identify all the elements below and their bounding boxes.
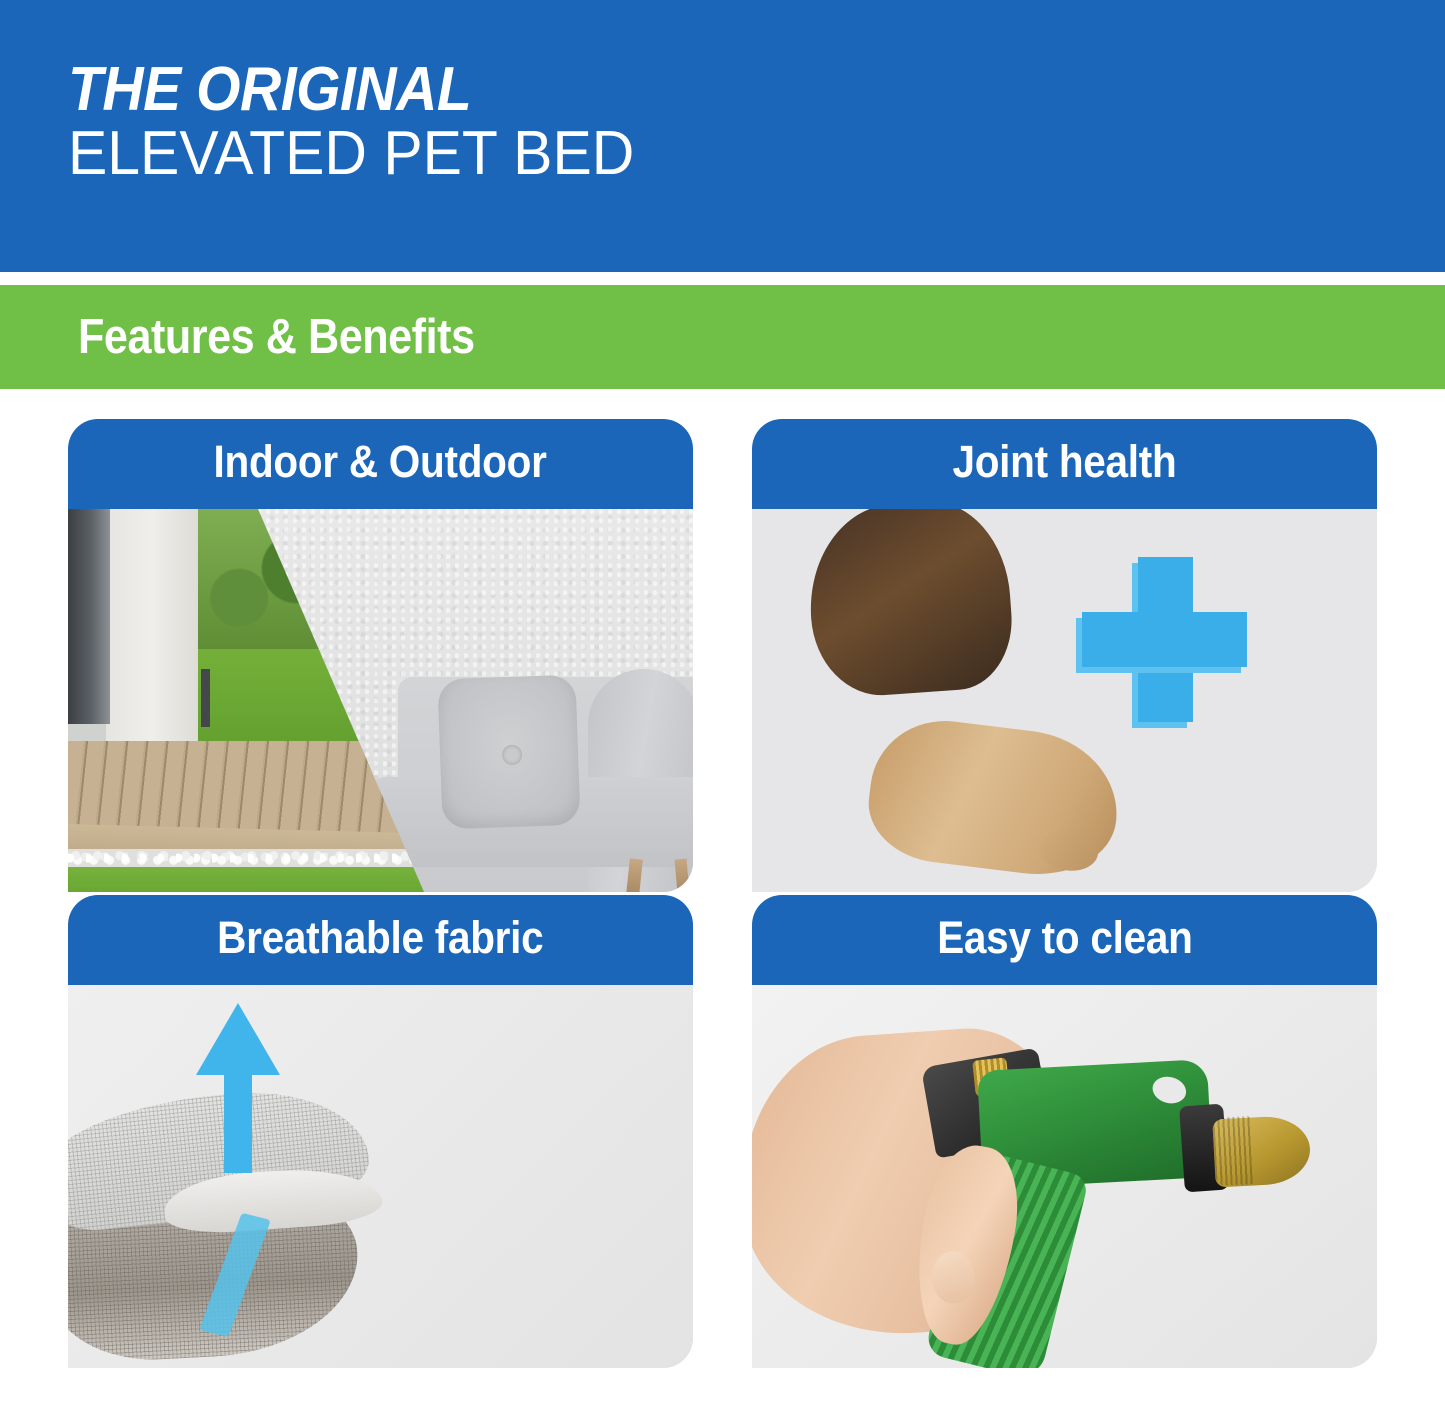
dog-paw (862, 712, 1125, 883)
hero-divider (0, 272, 1445, 285)
feature-image-breathable-fabric (68, 985, 693, 1368)
indoor-outdoor-composite (68, 509, 693, 892)
feature-card-indoor-outdoor: Indoor & Outdoor (68, 419, 693, 892)
hero-title-line-1: THE ORIGINAL (68, 58, 1335, 121)
brass-tip-ridges (1212, 1116, 1254, 1186)
lawn-foreground (68, 867, 448, 892)
feature-card-breathable-fabric: Breathable fabric (68, 895, 693, 1368)
dog-paw-photo (752, 509, 1377, 892)
up-arrow-icon (196, 997, 280, 1165)
arrow-shaft (224, 1065, 252, 1173)
section-banner: Features & Benefits (0, 285, 1445, 389)
hose-nozzle-photo (752, 985, 1377, 1368)
hero-banner: THE ORIGINAL ELEVATED PET BED (0, 0, 1445, 272)
feature-card-header: Breathable fabric (68, 895, 693, 985)
cushion-button (502, 745, 523, 766)
feature-card-header: Easy to clean (752, 895, 1377, 985)
feature-grid: Indoor & Outdoor (0, 389, 1445, 1411)
house-doorway (68, 509, 110, 724)
feature-card-header: Indoor & Outdoor (68, 419, 693, 509)
mesh-fabric-photo (68, 985, 693, 1368)
hero-title-line-2: ELEVATED PET BED (68, 121, 1376, 188)
feature-card-joint-health: Joint health (752, 419, 1377, 892)
house-pillar (106, 509, 198, 764)
feature-image-indoor-outdoor (68, 509, 693, 892)
feature-card-easy-to-clean: Easy to clean (752, 895, 1377, 1368)
feature-image-joint-health (752, 509, 1377, 892)
feature-image-easy-to-clean (752, 985, 1377, 1368)
feature-title: Breathable fabric (217, 912, 543, 964)
feature-title: Joint health (952, 436, 1176, 488)
garden-post (201, 669, 210, 727)
thumbnail (931, 1251, 975, 1304)
sofa-cushion (437, 675, 580, 830)
nozzle-hanging-hole (1150, 1073, 1190, 1107)
section-title: Features & Benefits (78, 309, 475, 365)
feature-title: Easy to clean (937, 912, 1192, 964)
paw-toe (1038, 827, 1100, 874)
feature-card-header: Joint health (752, 419, 1377, 509)
feature-title: Indoor & Outdoor (214, 436, 547, 488)
medical-cross-icon (1082, 557, 1247, 722)
